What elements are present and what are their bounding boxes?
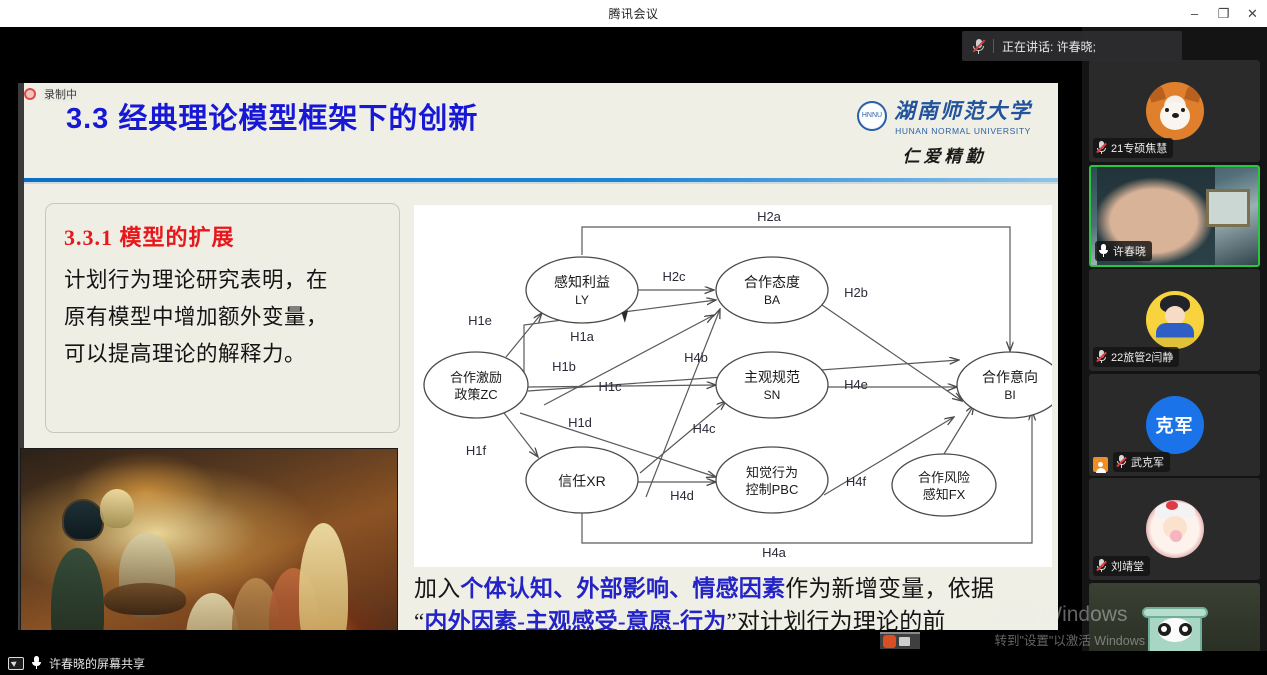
edge-label-h1f: H1f [466, 443, 487, 458]
avatar [1146, 291, 1204, 349]
edge-label-h2a: H2a [757, 209, 782, 224]
slide-title: 3.3 经典理论模型框架下的创新 [66, 95, 478, 137]
avatar [1146, 82, 1204, 140]
participant-label: 许春晓 [1095, 241, 1152, 261]
edge-label-h2c: H2c [662, 269, 686, 284]
minimize-button[interactable]: – [1180, 0, 1209, 27]
participant-label: 武克军 [1113, 452, 1170, 472]
edge-label-h4e: H4e [844, 377, 868, 392]
recording-indicator: 录制中 [24, 86, 80, 102]
edge-label-h4c: H4c [692, 421, 716, 436]
bottom-text-highlight: 内外因素-主观感受-意愿-行为 [424, 609, 726, 630]
mic-muted-icon [1096, 141, 1107, 155]
university-logo: HNNU 湖南师范大学 HUNAN NORMAL UNIVERSITY 仁爱精勤 [857, 95, 1032, 177]
edge-label-h1b: H1b [552, 359, 576, 374]
node-label: 政策ZC [454, 387, 497, 402]
node-label: SN [764, 388, 781, 402]
title-bar: 腾讯会议 – ❐ ✕ [0, 0, 1267, 27]
tencent-meeting-window: 腾讯会议 – ❐ ✕ 录制中 3.3 经典理论模型框架下的创新 [0, 0, 1267, 675]
painting-window [62, 499, 103, 541]
stage-left-gap [0, 54, 18, 675]
node-label: LY [575, 293, 589, 307]
speaking-text: 正在讲话: 许春晓; [1002, 38, 1096, 55]
participant-name: 武克军 [1131, 454, 1164, 470]
edge-label-h4d: H4d [670, 488, 694, 503]
node-label: 信任XR [558, 473, 605, 489]
model-extension-card: 3.3.1 模型的扩展 计划行为理论研究表明，在 原有模型中增加额外变量， 可以… [45, 203, 400, 433]
monitor-icon [899, 637, 910, 646]
title-divider-rule-secondary [24, 182, 1058, 184]
close-button[interactable]: ✕ [1238, 0, 1267, 27]
research-model-diagram: 感知利益 LY 合作激励 政策ZC 信任XR 合作态度 BA 主观规范 [414, 205, 1052, 567]
participant-tile[interactable]: 许春晓 [1089, 165, 1260, 267]
node-label: 合作意向 [982, 369, 1038, 385]
painting-table [104, 583, 187, 615]
edge-label-h2b: H2b [844, 285, 868, 300]
host-badge-icon [1093, 457, 1108, 472]
card-heading: 3.3.1 模型的扩展 [64, 220, 381, 252]
node-label: 感知FX [923, 487, 966, 502]
shared-screen-area[interactable]: 录制中 3.3 经典理论模型框架下的创新 HNNU 湖南师范大学 HUNAN N… [18, 53, 1058, 658]
node-label: 知觉行为 [746, 465, 798, 480]
node-label: 合作态度 [744, 274, 800, 290]
bottom-text-quote-open: “ [414, 609, 424, 630]
bottom-text-highlight: 个体认知、外部影响、情感因素 [460, 576, 785, 601]
painting-hearth [100, 489, 134, 529]
node-label: 控制PBC [746, 482, 799, 497]
taskbar-thumbnail[interactable] [880, 632, 920, 649]
bottom-text-post: ”对计划行为理论的前 [726, 609, 945, 630]
maximize-button[interactable]: ❐ [1209, 0, 1238, 27]
app-title: 腾讯会议 [608, 5, 658, 22]
screen-share-text: 许春晓的屏幕共享 [49, 655, 145, 672]
card-body-line: 计划行为理论研究表明，在 [64, 262, 381, 299]
node-label: 主观规范 [744, 369, 800, 385]
bottom-text-pre: 加入 [414, 576, 460, 601]
edge-label-h1a: H1a [570, 329, 595, 344]
participant-tile[interactable]: 22旅管2闫静 [1089, 269, 1260, 371]
node-label: 感知利益 [554, 274, 610, 290]
painting-figure [299, 523, 348, 630]
university-seal-icon: HNNU [857, 101, 887, 131]
participant-name: 22旅管2闫静 [1111, 349, 1173, 365]
mic-muted-icon [1116, 455, 1127, 469]
screen-share-status-bar: 许春晓的屏幕共享 [0, 651, 1267, 675]
card-body-line: 原有模型中增加额外变量， [64, 299, 381, 336]
presentation-slide: 3.3 经典理论模型框架下的创新 HNNU 湖南师范大学 HUNAN NORMA… [18, 83, 1058, 630]
university-motto: 仁爱精勤 [857, 142, 1032, 167]
mic-muted-icon [972, 38, 985, 55]
banner-separator [993, 39, 994, 53]
diagram-svg: 感知利益 LY 合作激励 政策ZC 信任XR 合作态度 BA 主观规范 [414, 205, 1052, 567]
university-name-cn: 湖南师范大学 [894, 95, 1032, 125]
painting-figure [51, 548, 104, 630]
participant-video-strip[interactable]: 21专硕焦慧 许春晓 [1082, 27, 1267, 675]
slide-bottom-text: 加入个体认知、外部影响、情感因素作为新增变量，依据 “内外因素-主观感受-意愿-… [414, 573, 1058, 630]
participant-tile[interactable]: 刘靖堂 [1089, 478, 1260, 580]
node-label: BA [764, 293, 780, 307]
edge-label-h4b: H4b [684, 350, 708, 365]
participant-name: 刘靖堂 [1111, 558, 1144, 574]
record-dot-icon [24, 88, 36, 100]
avatar [1146, 500, 1204, 558]
participant-tile[interactable]: 克军 武克军 [1089, 374, 1260, 476]
avatar: 克军 [1146, 396, 1204, 454]
edge-label-h4a: H4a [762, 545, 787, 560]
participant-name: 21专硕焦慧 [1111, 140, 1167, 156]
participant-name: 许春晓 [1113, 243, 1146, 259]
active-speaker-banner: 正在讲话: 许春晓; [962, 31, 1182, 61]
mic-on-icon [31, 656, 42, 670]
node-label: BI [1004, 388, 1015, 402]
participant-label: 21专硕焦慧 [1093, 138, 1173, 158]
recording-label: 录制中 [41, 86, 80, 102]
node-label: 合作风险 [918, 470, 970, 485]
edge-label-h4f: H4f [846, 474, 867, 489]
bottom-text-line-1: 加入个体认知、外部影响、情感因素作为新增变量，依据 [414, 573, 1058, 606]
bottom-text-post: 作为新增变量，依据 [785, 576, 994, 601]
mic-muted-icon [1096, 559, 1107, 573]
meeting-stage: 录制中 3.3 经典理论模型框架下的创新 HNNU 湖南师范大学 HUNAN N… [0, 27, 1267, 675]
edge-label-h1c: H1c [598, 379, 622, 394]
edge-label-h1d: H1d [568, 415, 592, 430]
bottom-text-line-2: “内外因素-主观感受-意愿-行为”对计划行为理论的前 [414, 606, 1058, 630]
participant-tile[interactable]: 21专硕焦慧 [1089, 60, 1260, 162]
window-controls: – ❐ ✕ [1180, 0, 1267, 27]
edge-label-h1e: H1e [468, 313, 492, 328]
card-body-line: 可以提高理论的解释力。 [64, 336, 381, 373]
participant-label: 刘靖堂 [1093, 556, 1150, 576]
illustration-painting: ◁ ▷ ✐ ✹ ▤ ⌕ ⋯ ‹ [20, 448, 398, 630]
university-name-en: HUNAN NORMAL UNIVERSITY [894, 126, 1032, 136]
screen-share-icon [8, 657, 24, 670]
app-icon [883, 635, 896, 648]
mic-muted-icon [1096, 350, 1107, 364]
node-label: 合作激励 [450, 370, 502, 385]
participant-label: 22旅管2闫静 [1093, 347, 1179, 367]
mic-on-icon [1098, 244, 1109, 258]
video-background-picture [1206, 189, 1250, 227]
